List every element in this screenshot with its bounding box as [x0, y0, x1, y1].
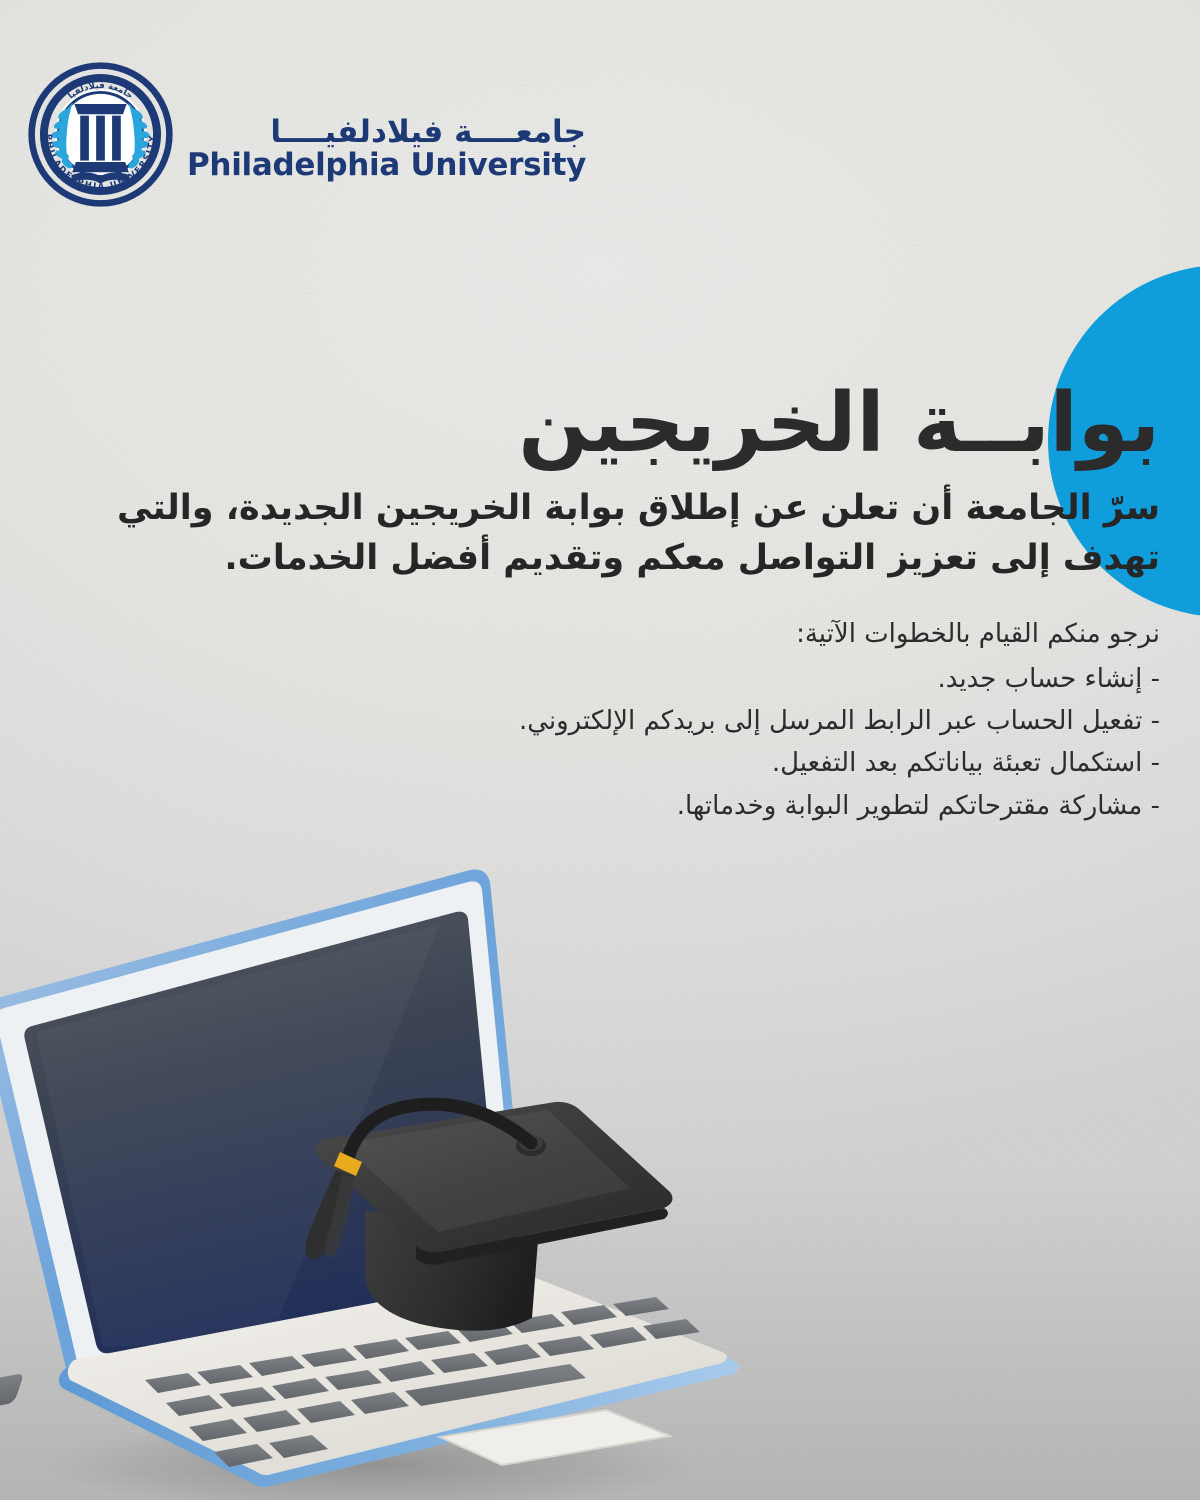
step-item: - مشاركة مقترحاتكم لتطوير البوابة وخدمات…: [40, 785, 1160, 827]
poster-canvas: PHILADELPHIA UNIVERSITY جامعة فيلادلفيا …: [0, 0, 1200, 1500]
university-crest-icon: PHILADELPHIA UNIVERSITY جامعة فيلادلفيا: [28, 62, 173, 207]
page-title: بوابــة الخريجين: [40, 378, 1160, 470]
steps-intro: نرجو منكم القيام بالخطوات الآتية:: [40, 615, 1160, 654]
step-item: - تفعيل الحساب عبر الرابط المرسل إلى بري…: [40, 700, 1160, 742]
step-item: - استكمال تعبئة بياناتكم بعد التفعيل.: [40, 742, 1160, 784]
brand-wordmark: جامعــــة فيلادلفيــــا Philadelphia Uni…: [187, 117, 586, 181]
brand-logo: PHILADELPHIA UNIVERSITY جامعة فيلادلفيا …: [28, 62, 586, 207]
hero-copy: بوابــة الخريجين سرّ الجامعة أن تعلن عن …: [40, 378, 1160, 827]
hero-lede: سرّ الجامعة أن تعلن عن إطلاق بوابة الخري…: [40, 484, 1160, 583]
brand-name-arabic: جامعــــة فيلادلفيــــا: [187, 117, 586, 148]
brand-name-english: Philadelphia University: [187, 150, 586, 181]
laptop-with-graduation-cap-illustration: [0, 840, 750, 1500]
step-item: - إنشاء حساب جديد.: [40, 658, 1160, 700]
